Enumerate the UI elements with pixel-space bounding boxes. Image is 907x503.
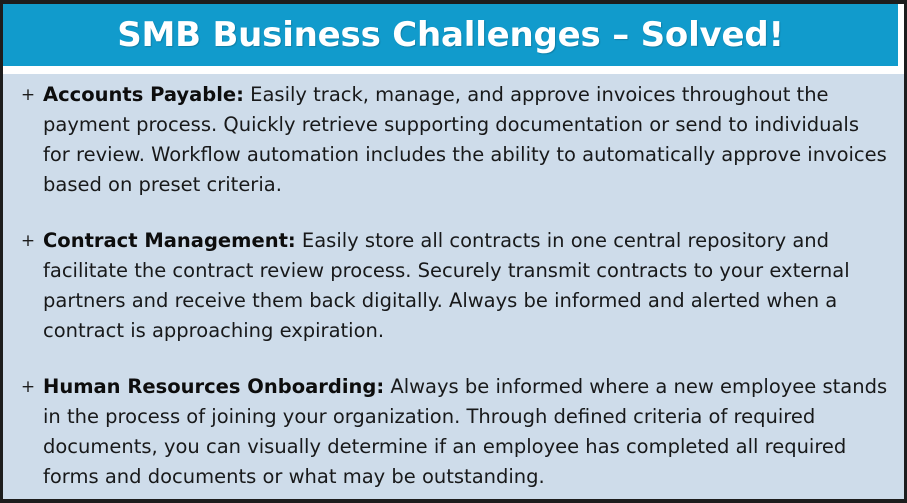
list-item-text: Accounts Payable: Easily track, manage, … bbox=[43, 80, 890, 200]
list-item-text: Contract Management: Easily store all co… bbox=[43, 226, 890, 346]
list-item: + Contract Management: Easily store all … bbox=[13, 226, 890, 346]
slide-container: SMB Business Challenges – Solved! + Acco… bbox=[0, 0, 907, 503]
slide-header-bar: SMB Business Challenges – Solved! bbox=[3, 4, 898, 66]
list-item: + Human Resources Onboarding: Always be … bbox=[13, 372, 890, 492]
list-item-lead-in: Accounts Payable: bbox=[43, 83, 244, 106]
plus-bullet-icon: + bbox=[13, 372, 43, 402]
challenges-list: + Accounts Payable: Easily track, manage… bbox=[13, 80, 890, 492]
list-item-lead-in: Contract Management: bbox=[43, 229, 296, 252]
header-separator bbox=[3, 66, 904, 74]
list-item-lead-in: Human Resources Onboarding: bbox=[43, 375, 384, 398]
plus-bullet-icon: + bbox=[13, 226, 43, 256]
slide-title: SMB Business Challenges – Solved! bbox=[117, 18, 784, 52]
slide-body-panel: + Accounts Payable: Easily track, manage… bbox=[3, 74, 904, 499]
list-item: + Accounts Payable: Easily track, manage… bbox=[13, 80, 890, 200]
list-item-text: Human Resources Onboarding: Always be in… bbox=[43, 372, 890, 492]
plus-bullet-icon: + bbox=[13, 80, 43, 110]
